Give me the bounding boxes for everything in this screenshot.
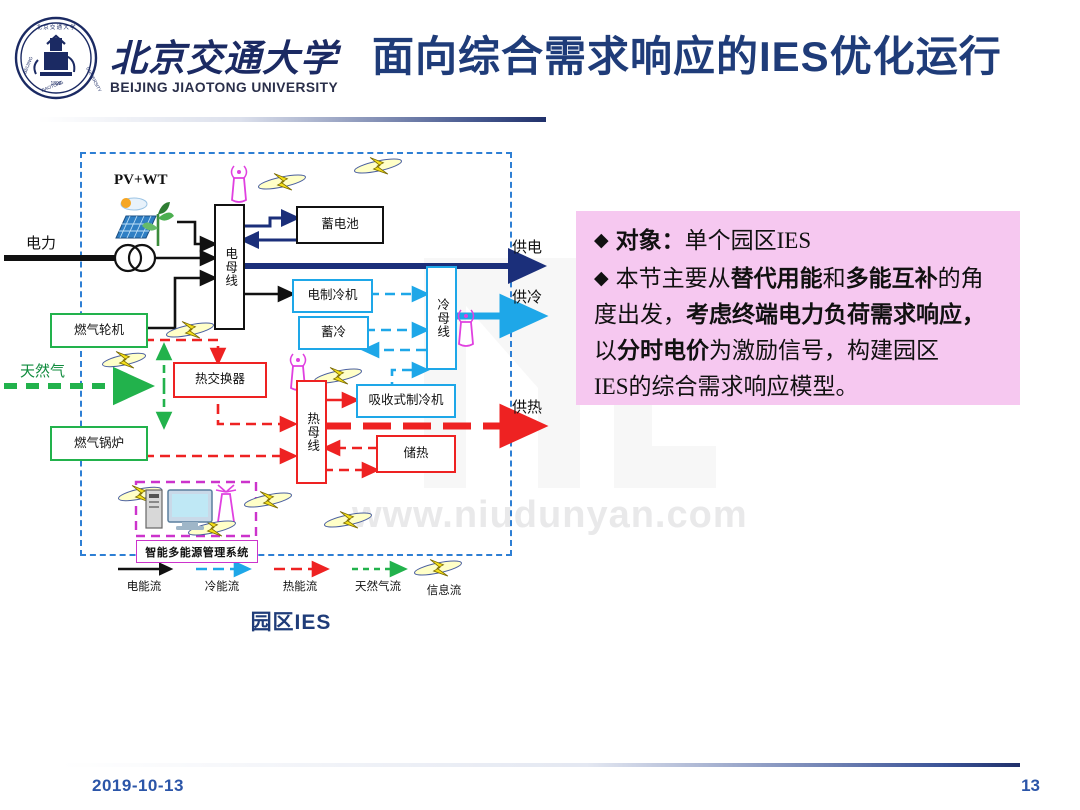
footer-date: 2019-10-13	[92, 776, 184, 796]
callout-line3-b: 考虑终端电力负荷需求响应，	[686, 302, 985, 327]
ies-diagram: 智能多能源管理系统 电母线 蓄电池 电制冷机 蓄冷 冷母线 燃气轮机 燃气锅炉 …	[18, 148, 564, 638]
heat-bus[interactable]: 热母线	[296, 380, 327, 484]
power-supply-label: 供电	[512, 236, 542, 257]
lightning-icon-9	[322, 505, 373, 535]
electric-input-label: 电力	[26, 232, 56, 253]
footer-divider	[60, 763, 1020, 767]
legend-heating-flow: 热能流	[270, 578, 330, 594]
bullet-icon-1: ◆	[594, 230, 609, 251]
callout-line1-text: 单个园区IES	[685, 228, 812, 253]
gas-turbine[interactable]: 燃气轮机	[50, 313, 148, 348]
battery-storage[interactable]: 蓄电池	[296, 206, 384, 244]
gas-boiler[interactable]: 燃气锅炉	[50, 426, 148, 461]
antenna-icon-electric	[232, 166, 247, 202]
university-crest-icon: 1896 北 京 交 通 大 学 BEIJING JIAOTONG UNIVER…	[14, 16, 98, 100]
legend-gas-flow: 天然气流	[344, 578, 412, 594]
callout-line3-a: 度出发，	[594, 302, 686, 327]
callout-line1-label: 对象：	[616, 228, 685, 253]
computer-icon	[144, 486, 218, 532]
callout-line2-d: 多能互补	[846, 266, 938, 291]
bullet-icon-2: ◆	[594, 268, 609, 289]
callout-line-2: ◆本节主要从替代用能和多能互补的角	[594, 259, 984, 293]
callout-line2-e: 的角	[938, 266, 984, 291]
footer-page-number: 13	[1021, 776, 1040, 796]
university-name-cn: 北京交通大学	[110, 28, 338, 82]
electric-chiller[interactable]: 电制冷机	[292, 279, 373, 313]
svg-text:北 京 交 通 大 学: 北 京 交 通 大 学	[36, 23, 76, 31]
callout-line-5: IES的综合需求响应模型。	[594, 367, 859, 401]
electric-bus[interactable]: 电母线	[214, 204, 245, 330]
lightning-icon-1	[256, 167, 307, 197]
antenna-icon-cold	[459, 310, 474, 346]
absorption-chiller[interactable]: 吸收式制冷机	[356, 384, 456, 418]
callout-line4-a: 以	[594, 338, 617, 363]
university-name-en: BEIJING JIAOTONG UNIVERSITY	[110, 80, 338, 95]
heat-storage[interactable]: 储热	[376, 435, 456, 473]
lightning-icon-4	[100, 346, 147, 375]
heating-supply-label: 供热	[512, 396, 542, 417]
legend-electric-flow: 电能流	[114, 578, 174, 594]
heat-exchanger[interactable]: 热交换器	[173, 362, 267, 398]
cooling-supply-label: 供冷	[512, 286, 542, 307]
header-divider	[38, 117, 546, 122]
legend-cooling-flow: 冷能流	[192, 578, 252, 594]
antenna-icon-ems	[216, 485, 236, 522]
ems-label: 智能多能源管理系统	[136, 540, 258, 563]
callout-box: ◆对象：单个园区IES ◆本节主要从替代用能和多能互补的角 度出发，考虑终端电力…	[576, 211, 1020, 405]
callout-line-1: ◆对象：单个园区IES	[594, 221, 811, 255]
callout-line-3: 度出发，考虑终端电力负荷需求响应，	[594, 295, 985, 329]
gas-input-label: 天然气	[20, 360, 65, 381]
callout-line2-a: 本节主要从	[616, 266, 731, 291]
callout-line4-c: 为激励信号，构建园区	[709, 338, 939, 363]
cold-storage[interactable]: 蓄冷	[298, 316, 369, 350]
callout-line4-b: 分时电价	[617, 338, 709, 363]
pv-wt-label: PV+WT	[114, 172, 168, 189]
lightning-icon-6	[242, 485, 293, 515]
legend-information-flow: 信息流	[414, 582, 474, 598]
diagram-caption: 园区IES	[18, 606, 564, 636]
pv-wt-icon	[114, 192, 180, 248]
cold-bus[interactable]: 冷母线	[426, 266, 457, 370]
callout-line2-b: 替代用能	[731, 266, 823, 291]
university-logo: 1896 北 京 交 通 大 学 BEIJING JIAOTONG UNIVER…	[14, 14, 304, 104]
diagram-icons	[18, 148, 564, 638]
lightning-icon-legend	[412, 553, 463, 583]
callout-line-4: 以分时电价为激励信号，构建园区	[594, 331, 939, 365]
callout-line2-c: 和	[823, 266, 846, 291]
page-title: 面向综合需求响应的IES优化运行	[372, 24, 1032, 90]
lightning-icon-2	[164, 315, 215, 345]
slide-root: 1896 北 京 交 通 大 学 BEIJING JIAOTONG UNIVER…	[0, 0, 1080, 810]
lightning-icon-5	[352, 151, 403, 181]
